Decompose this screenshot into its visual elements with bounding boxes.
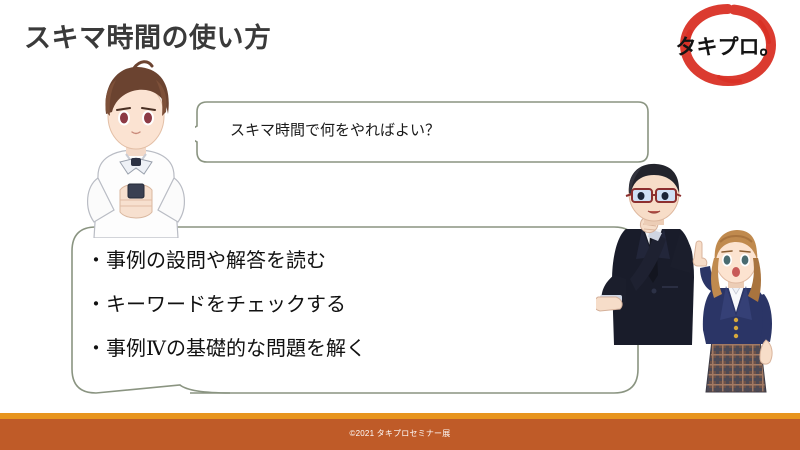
right-pupil [144,113,152,124]
left-pupil [724,255,731,264]
pointing-hand [693,241,707,266]
right-pupil [742,255,749,264]
list-item: ・事例の設問や解答を読む [86,239,506,283]
left-eye [638,192,645,200]
device [128,184,144,198]
student-character [68,58,204,238]
hair-ahoge [134,62,152,68]
left-pupil [120,113,128,124]
page-title: スキマ時間の使い方 [24,16,272,55]
blazer-button [734,334,738,338]
logo-text: タキプロ。 [676,35,781,59]
woman-character [686,228,786,393]
blazer-button [734,326,738,330]
list-item: ・事例Ⅳの基礎的な問題を解く [86,327,506,371]
ribbon-knot [131,158,141,166]
question-speech-bubble: スキマ時間で何をやればよい？ [195,100,650,165]
jacket-button [652,289,657,294]
takipro-logo: タキプロ。 [670,2,786,88]
mouth [732,267,740,277]
left-hand [596,297,622,311]
slide-canvas: スキマ時間の使い方 タキプロ。 スキマ時間で何をやればよい？ ・事例の設問や解答… [0,0,800,450]
right-eye [662,192,669,200]
blazer-button [734,318,738,322]
plaid-skirt [706,340,766,392]
list-item: ・キーワードをチェックする [86,283,506,327]
answer-speech-bubble: ・事例の設問や解答を読む ・キーワードをチェックする ・事例Ⅳの基礎的な問題を解… [70,225,640,395]
answer-list: ・事例の設問や解答を読む ・キーワードをチェックする ・事例Ⅳの基礎的な問題を解… [86,239,506,371]
footer-copyright: ©2021 タキプロセミナー展 [0,428,800,439]
question-bubble-text: スキマ時間で何をやればよい？ [230,119,440,140]
